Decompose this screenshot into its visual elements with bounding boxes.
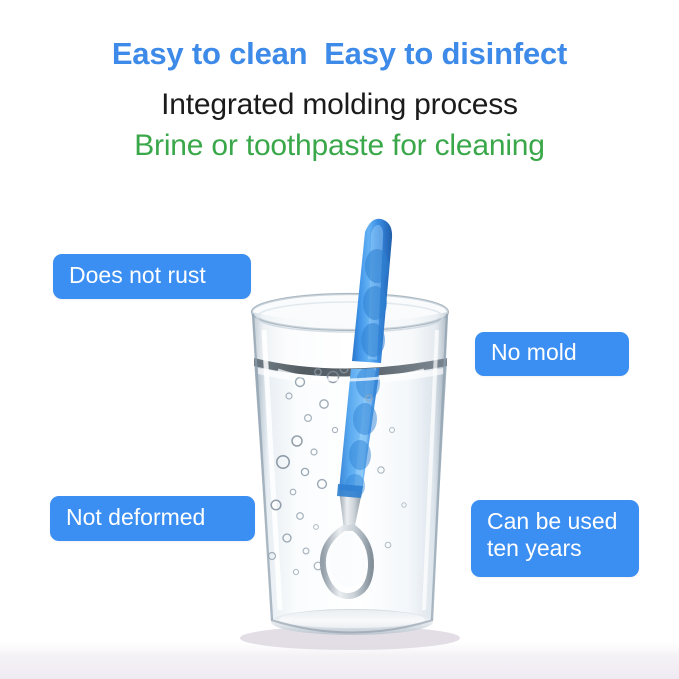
headline-tertiary: Brine or toothpaste for cleaning [0,128,679,163]
feature-badge-no-mold[interactable]: No mold [475,332,629,376]
scraper-collar [337,484,363,498]
glass-base-inner [279,610,425,628]
feature-badge-can-be-used-ten-years[interactable]: Can be used ten years [471,500,639,577]
feature-badge-does-not-rust[interactable]: Does not rust [53,254,251,299]
heading-block: Easy to clean Easy to disinfect Integrat… [0,36,679,163]
headline-secondary: Integrated molding process [0,87,679,122]
feature-badge-not-deformed[interactable]: Not deformed [50,496,255,541]
glass-rim-fill [252,294,448,330]
headline-primary: Easy to clean Easy to disinfect [0,36,679,73]
product-feature-poster: Easy to clean Easy to disinfect Integrat… [0,0,679,679]
